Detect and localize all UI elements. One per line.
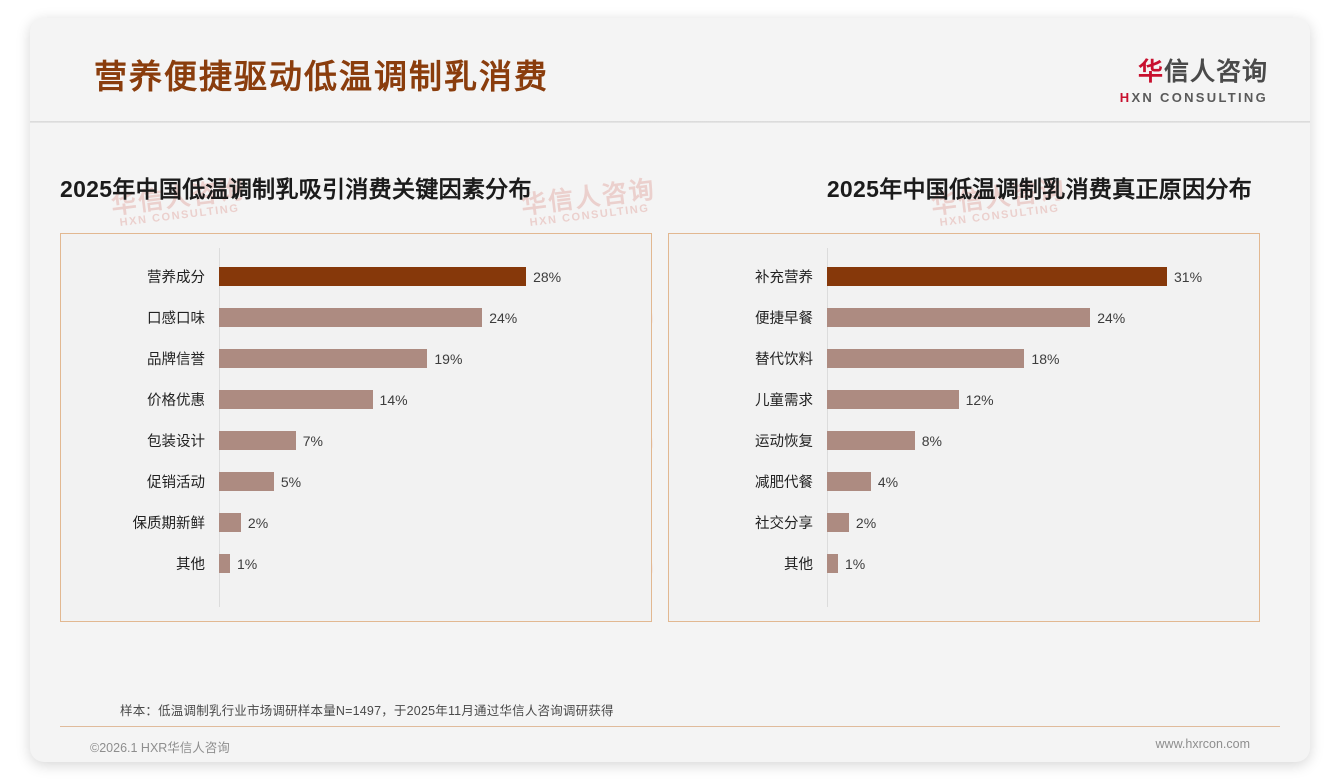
bar-row: 促销活动5% [61, 461, 651, 502]
bar-value-label: 24% [489, 310, 517, 326]
bar-category-label: 其他 [669, 553, 827, 574]
bar-track: 18% [827, 338, 1259, 379]
logo-cn-rest: 信人咨询 [1164, 58, 1268, 86]
bar-category-label: 减肥代餐 [669, 471, 827, 492]
slide: 华信人咨询HXN CONSULTING华信人咨询HXN CONSULTING华信… [30, 18, 1310, 762]
bar-row: 替代饮料18% [669, 338, 1259, 379]
logo-english-text: HXN CONSULTING [1120, 91, 1268, 104]
bar-fill [219, 267, 526, 286]
bar-category-label: 儿童需求 [669, 389, 827, 410]
sample-footnote: 样本：低温调制乳行业市场调研样本量N=1497，于2025年11月通过华信人咨询… [120, 700, 614, 719]
bar-value-label: 4% [878, 474, 898, 490]
bar-row: 口感口味24% [61, 297, 651, 338]
bar-row: 包装设计7% [61, 420, 651, 461]
bar-track: 19% [219, 338, 651, 379]
bar-value-label: 19% [434, 351, 462, 367]
bar-value-label: 5% [281, 474, 301, 490]
bar-fill [219, 308, 482, 327]
bar-track: 1% [827, 543, 1259, 584]
bar-track: 5% [219, 461, 651, 502]
bar-row: 其他1% [669, 543, 1259, 584]
bar-row: 减肥代餐4% [669, 461, 1259, 502]
bar-fill [219, 431, 296, 450]
bar-category-label: 替代饮料 [669, 348, 827, 369]
bar-value-label: 31% [1174, 269, 1202, 285]
bar-track: 31% [827, 256, 1259, 297]
bar-track: 2% [219, 502, 651, 543]
bar-track: 1% [219, 543, 651, 584]
bar-track: 14% [219, 379, 651, 420]
bar-row: 儿童需求12% [669, 379, 1259, 420]
bar-category-label: 保质期新鲜 [61, 512, 219, 533]
bar-category-label: 口感口味 [61, 307, 219, 328]
bar-row: 补充营养31% [669, 256, 1259, 297]
bar-value-label: 24% [1097, 310, 1125, 326]
bar-list-left: 营养成分28%口感口味24%品牌信誉19%价格优惠14%包装设计7%促销活动5%… [61, 256, 651, 599]
bar-category-label: 价格优惠 [61, 389, 219, 410]
chart-title-left: 2025年中国低温调制乳吸引消费关键因素分布 [60, 170, 652, 204]
bar-value-label: 7% [303, 433, 323, 449]
bar-track: 4% [827, 461, 1259, 502]
bar-fill [219, 472, 274, 491]
page-title: 营养便捷驱动低温调制乳消费 [94, 50, 549, 98]
bar-fill [219, 349, 427, 368]
bar-value-label: 18% [1031, 351, 1059, 367]
bar-fill [827, 554, 838, 573]
bar-category-label: 促销活动 [61, 471, 219, 492]
chart-box-right: 补充营养31%便捷早餐24%替代饮料18%儿童需求12%运动恢复8%减肥代餐4%… [668, 233, 1260, 622]
bar-fill [827, 472, 871, 491]
bar-fill [827, 267, 1167, 286]
bar-row: 保质期新鲜2% [61, 502, 651, 543]
logo-en-rest: XN CONSULTING [1131, 90, 1268, 105]
chart-box-left: 营养成分28%口感口味24%品牌信誉19%价格优惠14%包装设计7%促销活动5%… [60, 233, 652, 622]
chart-panel-right: 2025年中国低温调制乳消费真正原因分布 补充营养31%便捷早餐24%替代饮料1… [668, 122, 1260, 622]
chart-title-right: 2025年中国低温调制乳消费真正原因分布 [668, 170, 1260, 204]
bar-category-label: 品牌信誉 [61, 348, 219, 369]
bar-value-label: 8% [922, 433, 942, 449]
bar-track: 24% [827, 297, 1259, 338]
website-url[interactable]: www.hxrcon.com [1156, 737, 1250, 751]
bar-track: 24% [219, 297, 651, 338]
slide-footer: ©2026.1 HXR华信人咨询 www.hxrcon.com [30, 726, 1310, 762]
bar-category-label: 营养成分 [61, 266, 219, 287]
bar-value-label: 28% [533, 269, 561, 285]
bar-fill [827, 308, 1090, 327]
bar-fill [219, 513, 241, 532]
slide-header: 营养便捷驱动低温调制乳消费 [30, 18, 1310, 122]
bar-track: 2% [827, 502, 1259, 543]
bar-track: 8% [827, 420, 1259, 461]
header-divider [30, 121, 1310, 123]
bar-track: 7% [219, 420, 651, 461]
bar-value-label: 1% [845, 556, 865, 572]
bar-fill [827, 513, 849, 532]
charts-region: 2025年中国低温调制乳吸引消费关键因素分布 营养成分28%口感口味24%品牌信… [30, 122, 1310, 682]
bar-fill [827, 390, 959, 409]
bar-fill [827, 431, 915, 450]
bar-track: 28% [219, 256, 651, 297]
bar-category-label: 补充营养 [669, 266, 827, 287]
bar-value-label: 12% [966, 392, 994, 408]
bar-row: 其他1% [61, 543, 651, 584]
bar-fill [219, 390, 373, 409]
bar-value-label: 14% [380, 392, 408, 408]
bar-category-label: 包装设计 [61, 430, 219, 451]
bar-row: 价格优惠14% [61, 379, 651, 420]
bar-category-label: 运动恢复 [669, 430, 827, 451]
chart-panel-left: 2025年中国低温调制乳吸引消费关键因素分布 营养成分28%口感口味24%品牌信… [60, 122, 652, 622]
logo-chinese-text: 华信人咨询 [1120, 60, 1268, 85]
bar-category-label: 社交分享 [669, 512, 827, 533]
bar-value-label: 2% [856, 515, 876, 531]
bar-row: 营养成分28% [61, 256, 651, 297]
logo-hua-char: 华 [1138, 58, 1164, 86]
bar-list-right: 补充营养31%便捷早餐24%替代饮料18%儿童需求12%运动恢复8%减肥代餐4%… [669, 256, 1259, 599]
bar-category-label: 其他 [61, 553, 219, 574]
bar-fill [827, 349, 1024, 368]
bar-fill [219, 554, 230, 573]
bar-value-label: 1% [237, 556, 257, 572]
bar-category-label: 便捷早餐 [669, 307, 827, 328]
bar-track: 12% [827, 379, 1259, 420]
bar-row: 社交分享2% [669, 502, 1259, 543]
copyright-text: ©2026.1 HXR华信人咨询 [90, 737, 230, 756]
bar-row: 便捷早餐24% [669, 297, 1259, 338]
bar-row: 运动恢复8% [669, 420, 1259, 461]
bar-row: 品牌信誉19% [61, 338, 651, 379]
logo-h-char: H [1120, 90, 1132, 105]
bar-value-label: 2% [248, 515, 268, 531]
brand-logo: 华信人咨询 HXN CONSULTING [1120, 60, 1268, 104]
